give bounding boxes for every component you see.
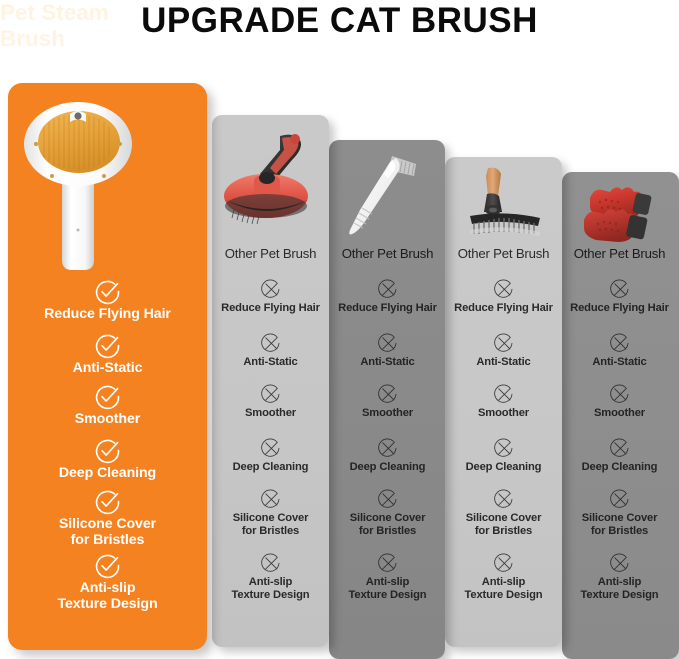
feature-row-other-3-5: Anti-slip Texture Design [441, 552, 566, 601]
feature-label: Anti-slip Texture Design [208, 576, 333, 601]
cross-circle-icon [609, 552, 631, 574]
cross-circle-icon [609, 488, 631, 510]
feature-row-other-1-2: Smoother [208, 383, 333, 420]
feature-label: Smoother [557, 407, 679, 420]
feature-label: Anti-slip Texture Design [557, 576, 679, 601]
feature-row-other-4-0: Reduce Flying Hair [557, 278, 679, 315]
feature-label: Deep Cleaning [325, 461, 450, 474]
feature-label: Smoother [208, 407, 333, 420]
cross-circle-icon [260, 488, 282, 510]
feature-label: Anti-slip Texture Design [10, 581, 205, 613]
product-name-other-1: Other Pet Brush [208, 246, 333, 261]
cross-circle-icon [260, 332, 282, 354]
page-title: UPGRADE CAT BRUSH [0, 1, 679, 41]
feature-label: Reduce Flying Hair [557, 302, 679, 315]
feature-label: Deep Cleaning [208, 461, 333, 474]
cross-circle-icon [493, 437, 515, 459]
feature-row-other-4-4: Silicone Cover for Bristles [557, 488, 679, 537]
feature-row-other-3-1: Anti-Static [441, 332, 566, 369]
white-flea-comb-icon [342, 150, 430, 242]
feature-label: Reduce Flying Hair [441, 302, 566, 315]
feature-row-other-2-3: Deep Cleaning [325, 437, 450, 474]
cross-circle-icon [260, 552, 282, 574]
cross-circle-icon [260, 437, 282, 459]
cross-circle-icon [493, 383, 515, 405]
cross-circle-icon [493, 488, 515, 510]
grooming-gloves-icon [576, 178, 668, 256]
cross-circle-icon [260, 383, 282, 405]
feature-row-other-1-1: Anti-Static [208, 332, 333, 369]
cross-circle-icon [377, 552, 399, 574]
feature-row-other-2-1: Anti-Static [325, 332, 450, 369]
feature-label: Silicone Cover for Bristles [208, 512, 333, 537]
feature-row-other-4-5: Anti-slip Texture Design [557, 552, 679, 601]
feature-label: Silicone Cover for Bristles [325, 512, 450, 537]
feature-label: Anti-Static [325, 356, 450, 369]
feature-row-other-3-4: Silicone Cover for Bristles [441, 488, 566, 537]
comparison-infographic: UPGRADE CAT BRUSH [0, 0, 679, 659]
cross-circle-icon [609, 383, 631, 405]
product-name-other-2: Other Pet Brush [325, 246, 450, 261]
feature-label: Anti-Static [441, 356, 566, 369]
cross-circle-icon [260, 278, 282, 300]
feature-row-hero-2: Smoother [10, 383, 205, 428]
feature-row-other-2-5: Anti-slip Texture Design [325, 552, 450, 601]
feature-row-hero-5: Anti-slip Texture Design [10, 552, 205, 613]
cross-circle-icon [377, 488, 399, 510]
feature-row-other-1-5: Anti-slip Texture Design [208, 552, 333, 601]
check-circle-icon [94, 488, 121, 515]
feature-row-other-1-4: Silicone Cover for Bristles [208, 488, 333, 537]
cross-circle-icon [609, 278, 631, 300]
feature-row-hero-1: Anti-Static [10, 332, 205, 377]
product-name-other-3: Other Pet Brush [441, 246, 566, 261]
feature-label: Smoother [325, 407, 450, 420]
cross-circle-icon [493, 552, 515, 574]
feature-row-other-1-3: Deep Cleaning [208, 437, 333, 474]
feature-row-other-4-1: Anti-Static [557, 332, 679, 369]
cross-circle-icon [377, 383, 399, 405]
feature-label: Reduce Flying Hair [325, 302, 450, 315]
feature-label: Deep Cleaning [10, 466, 205, 482]
feature-label: Silicone Cover for Bristles [557, 512, 679, 537]
feature-label: Deep Cleaning [557, 461, 679, 474]
feature-label: Anti-Static [10, 361, 205, 377]
feature-row-hero-0: Reduce Flying Hair [10, 278, 205, 323]
feature-label: Anti-Static [557, 356, 679, 369]
feature-row-other-3-0: Reduce Flying Hair [441, 278, 566, 315]
feature-row-other-2-2: Smoother [325, 383, 450, 420]
cross-circle-icon [493, 278, 515, 300]
feature-row-other-3-2: Smoother [441, 383, 566, 420]
feature-label: Reduce Flying Hair [10, 307, 205, 323]
check-circle-icon [94, 278, 121, 305]
deshedding-rake-icon [462, 166, 548, 248]
feature-row-hero-4: Silicone Cover for Bristles [10, 488, 205, 549]
feature-label: Anti-slip Texture Design [325, 576, 450, 601]
feature-row-other-4-2: Smoother [557, 383, 679, 420]
feature-label: Silicone Cover for Bristles [441, 512, 566, 537]
feature-label: Smoother [441, 407, 566, 420]
check-circle-icon [94, 383, 121, 410]
feature-row-other-2-4: Silicone Cover for Bristles [325, 488, 450, 537]
cross-circle-icon [609, 332, 631, 354]
feature-label: Anti-Static [208, 356, 333, 369]
feature-label: Anti-slip Texture Design [441, 576, 566, 601]
red-slicker-brush-icon [220, 126, 321, 231]
feature-label: Reduce Flying Hair [208, 302, 333, 315]
product-name-other-4: Other Pet Brush [557, 246, 679, 261]
cross-circle-icon [377, 332, 399, 354]
cross-circle-icon [493, 332, 515, 354]
cross-circle-icon [377, 437, 399, 459]
feature-label: Silicone Cover for Bristles [10, 517, 205, 549]
feature-row-other-4-3: Deep Cleaning [557, 437, 679, 474]
feature-row-other-2-0: Reduce Flying Hair [325, 278, 450, 315]
check-circle-icon [94, 552, 121, 579]
feature-label: Smoother [10, 412, 205, 428]
feature-row-other-1-0: Reduce Flying Hair [208, 278, 333, 315]
feature-row-hero-3: Deep Cleaning [10, 437, 205, 482]
feature-label: Deep Cleaning [441, 461, 566, 474]
check-circle-icon [94, 332, 121, 359]
cross-circle-icon [377, 278, 399, 300]
cross-circle-icon [609, 437, 631, 459]
check-circle-icon [94, 437, 121, 464]
feature-row-other-3-3: Deep Cleaning [441, 437, 566, 474]
steam-brush-icon [22, 92, 137, 277]
